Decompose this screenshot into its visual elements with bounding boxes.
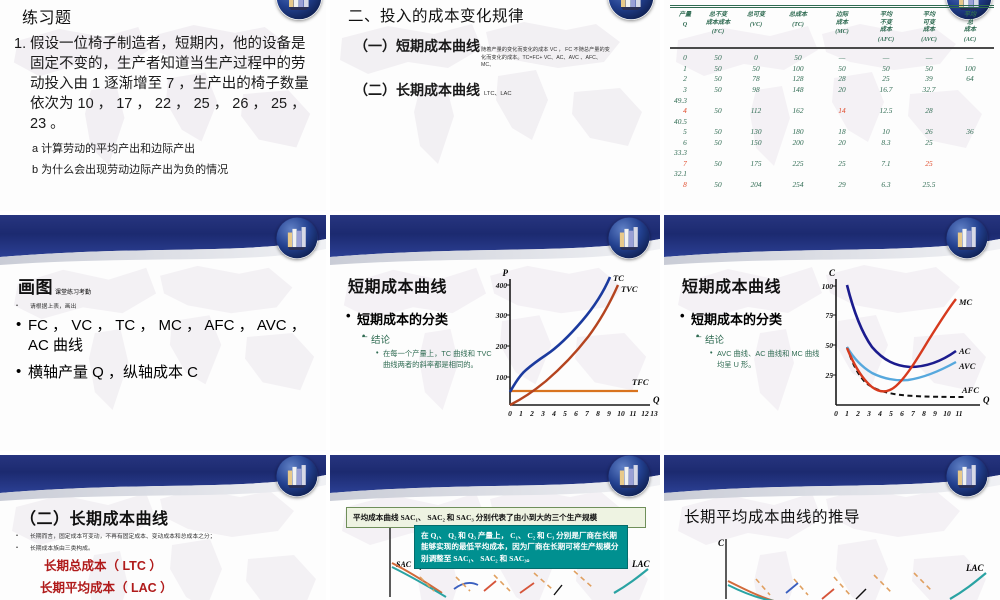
svg-text:10: 10	[617, 409, 625, 418]
svg-text:1: 1	[519, 409, 523, 418]
table-cell: 3	[670, 85, 700, 96]
svg-text:4: 4	[551, 409, 556, 418]
table-cell	[950, 159, 990, 170]
svg-text:1: 1	[845, 409, 849, 418]
table-cell: 225	[776, 159, 820, 170]
table-cell: 25	[908, 138, 950, 149]
books-pillars-logo	[276, 0, 322, 20]
table-rule-top	[670, 5, 994, 6]
page-title: 画图	[18, 273, 53, 298]
table-header-cell: 总不变成本成本(FC)	[700, 12, 736, 44]
svg-text:Q: Q	[653, 395, 660, 405]
table-cell: 25	[820, 159, 864, 170]
svg-text:11: 11	[955, 409, 962, 418]
svg-text:8: 8	[922, 409, 926, 418]
table-header-cell: 平均可变成本(AVC)	[908, 12, 950, 44]
table-cell: 29	[820, 180, 864, 191]
world-map-watermark	[330, 0, 660, 211]
page-title-note: 课堂练习考勤	[55, 287, 91, 298]
slide-short-run-average[interactable]: 短期成本曲线 短期成本的分类 – 结论 ▪ AVC 曲线、AC 曲线和 MC 曲…	[664, 215, 1000, 455]
table-cell: 50	[700, 53, 736, 64]
table-cell: 50	[700, 74, 736, 85]
table-cell: 100	[776, 64, 820, 75]
svg-text:7: 7	[911, 409, 915, 418]
table-cell	[950, 85, 990, 96]
table-cell: 1	[670, 64, 700, 75]
table-rule-mid	[670, 47, 994, 49]
table-cell: 8.3	[864, 138, 908, 149]
svg-text:TC: TC	[613, 273, 624, 283]
cost-law-body: （一）短期成本曲线 随着产量的变化而变化的成本 VC ， FC 不随总产量的变化…	[354, 36, 654, 100]
table-cell: 7.1	[864, 159, 908, 170]
table-cell: 10	[864, 127, 908, 138]
table-cell: 25	[864, 74, 908, 85]
table-cell: 6	[670, 138, 700, 149]
table-body: 050050————150501005050501002507812828253…	[670, 50, 994, 190]
table-row: 350981482016.732.7	[670, 85, 994, 96]
ac-avc-mc-afc-chart: C Q 10075 5025 012 345 678 91011	[804, 265, 996, 445]
callout-green-text: 平均成本曲线 SAC₁、 SAC₂ 和 SAC₃ 分别代表了由小到大的三个生产规…	[353, 512, 639, 523]
page-title: （二）长期成本曲线	[20, 505, 169, 529]
books-pillars-logo	[608, 217, 650, 259]
table-cell: 20	[820, 138, 864, 149]
slide-thumbnail-grid: 练习题 1. 假设一位椅子制造者，短期内，他的设备是固定不变的，生产者知道当生产…	[0, 0, 1000, 600]
slide-cost-table[interactable]: 产量Q总不变成本成本(FC)总可变(VC)总成本(TC)边际成本(MC)平均不变…	[664, 0, 1000, 215]
svg-text:P: P	[503, 268, 509, 278]
short-run-heading: （一）短期成本曲线	[354, 36, 480, 56]
lac-label: 长期平均成本（ LAC ）	[40, 577, 173, 596]
table-row: 650150200208.325	[670, 138, 994, 149]
table-header-cell: 产量Q	[670, 12, 700, 44]
svg-text:AC: AC	[958, 346, 971, 356]
svg-text:TVC: TVC	[621, 284, 638, 294]
table-cell: 78	[736, 74, 776, 85]
table-cell: 98	[736, 85, 776, 96]
table-cell: 50	[864, 64, 908, 75]
svg-text:100: 100	[496, 373, 508, 382]
table-cell: 16.7	[864, 85, 908, 96]
table-cell: 180	[776, 127, 820, 138]
table-cell: 254	[776, 180, 820, 191]
page-title: 长期平均成本曲线的推导	[684, 505, 860, 527]
exercise-sub-b: b 为什么会出现劳动边际产出为负的情况	[32, 161, 314, 177]
table-cell: 100	[950, 64, 990, 75]
slide-short-run-total[interactable]: 短期成本曲线 短期成本的分类 – 结论 ▪ 在每一个产量上，TC 曲线和 TVC…	[330, 215, 664, 455]
svg-text:5: 5	[563, 409, 567, 418]
item-number: 1.	[14, 34, 30, 134]
svg-text:6: 6	[900, 409, 904, 418]
table-cell: 5	[670, 127, 700, 138]
svg-text:0: 0	[834, 409, 838, 418]
table-cell: 39	[908, 74, 950, 85]
table-cell: 50	[700, 159, 736, 170]
bullet-level-2: – 结论	[362, 332, 496, 346]
svg-text:0: 0	[508, 409, 512, 418]
table-cell: 36	[950, 127, 990, 138]
short-run-note: 随着产量的变化而变化的成本 VC ， FC 不随总产量的变化而变化的成本。TC=…	[481, 47, 611, 70]
long-run-note-2: 长期成本族由三类构成。	[16, 545, 306, 554]
table-cell: 50	[700, 85, 736, 96]
svg-text:6: 6	[574, 409, 578, 418]
table-cell: 50	[908, 64, 950, 75]
table-cell-wrapped: 32.1	[670, 169, 994, 180]
table-cell: —	[950, 53, 990, 64]
books-pillars-logo	[946, 455, 988, 497]
slide-lac-derivation-callouts[interactable]: C SAC 1 LAC 平均成本曲线 SAC₁、 SAC₂ 和 SA	[330, 455, 664, 600]
svg-text:2: 2	[529, 409, 534, 418]
table-cell: 50	[776, 53, 820, 64]
svg-text:C: C	[718, 538, 725, 548]
page-title: 短期成本曲线	[348, 273, 447, 297]
books-pillars-logo	[608, 455, 650, 497]
svg-text:C: C	[829, 268, 836, 278]
svg-text:300: 300	[495, 311, 508, 320]
draw-tiny-bullet: 请根据上表，画出	[16, 303, 316, 312]
svg-text:3: 3	[866, 409, 871, 418]
long-run-notes: 长期而言，固定成本可变动，不再有固定成本、变动成本和总成本之分； 长期成本族由三…	[16, 533, 306, 553]
table-row: 750175225257.125	[670, 159, 994, 170]
svg-text:10: 10	[943, 409, 951, 418]
table-header-cell: 总成本(TC)	[776, 12, 820, 44]
lac-derivation-chart: C LAC	[674, 537, 996, 600]
table-header-row: 产量Q总不变成本成本(FC)总可变(VC)总成本(TC)边际成本(MC)平均不变…	[670, 9, 994, 46]
table-cell: 0	[736, 53, 776, 64]
table-cell: 130	[736, 127, 776, 138]
slide-long-run-cost[interactable]: （二）长期成本曲线 长期而言，固定成本可变动，不再有固定成本、变动成本和总成本之…	[0, 455, 330, 600]
table-cell: 50	[700, 127, 736, 138]
table-row: 55013018018102636	[670, 127, 994, 138]
table-cell	[950, 180, 990, 191]
slide-cost-change-law[interactable]: 二、投入的成本变化规律 （一）短期成本曲线 随着产量的变化而变化的成本 VC ，…	[330, 0, 664, 215]
svg-text:TFC: TFC	[632, 377, 649, 387]
svg-text:3: 3	[540, 409, 545, 418]
svg-text:400: 400	[495, 281, 508, 290]
table-cell: 148	[776, 85, 820, 96]
svg-text:2: 2	[855, 409, 860, 418]
svg-text:9: 9	[607, 409, 611, 418]
draw-bullets: 请根据上表，画出 FC ， VC ， TC ， MC ， AFC ， AVC ，…	[16, 303, 316, 384]
cost-table: 产量Q总不变成本成本(FC)总可变(VC)总成本(TC)边际成本(MC)平均不变…	[670, 4, 994, 190]
table-cell: 50	[700, 106, 736, 117]
svg-text:7: 7	[585, 409, 589, 418]
page-title: 短期成本曲线	[682, 273, 781, 297]
bullet-level-3: ▪ 在每一个产量上，TC 曲线和 TVC 曲线两者的斜率都是相同的。	[376, 349, 496, 371]
svg-text:200: 200	[495, 342, 508, 351]
table-cell: 204	[736, 180, 776, 191]
table-cell-wrapped: 40.5	[670, 117, 994, 128]
table-cell: 25.5	[908, 180, 950, 191]
bullet-level-1: 短期成本的分类	[346, 309, 496, 328]
page-title: 二、投入的成本变化规律	[348, 4, 524, 26]
table-header-cell: 平均总成本(AC)	[950, 12, 990, 44]
long-run-note: LTC、LAC	[484, 90, 512, 99]
short-run-total-bullets: 短期成本的分类 – 结论 ▪ 在每一个产量上，TC 曲线和 TVC 曲线两者的斜…	[346, 309, 496, 371]
table-row: 15050100505050100	[670, 64, 994, 75]
table-row: 4501121621412.528	[670, 106, 994, 117]
exercise-body: 1. 假设一位椅子制造者，短期内，他的设备是固定不变的，生产者知道当生产过程中的…	[14, 34, 314, 177]
table-cell: —	[820, 53, 864, 64]
svg-text:100: 100	[822, 282, 834, 291]
table-cell: 18	[820, 127, 864, 138]
table-cell: 28	[908, 106, 950, 117]
svg-text:5: 5	[889, 409, 893, 418]
table-row: 050050————	[670, 53, 994, 64]
page-title: 练习题	[22, 4, 72, 28]
books-pillars-logo	[946, 217, 988, 259]
table-cell-wrapped: 33.3	[670, 148, 994, 159]
table-row: 2507812828253964	[670, 74, 994, 85]
table-cell: 6.3	[864, 180, 908, 191]
table-cell: 12.5	[864, 106, 908, 117]
table-cell: 50	[736, 64, 776, 75]
svg-text:9: 9	[933, 409, 937, 418]
svg-text:11: 11	[629, 409, 636, 418]
exercise-paragraph: 假设一位椅子制造者，短期内，他的设备是固定不变的，生产者知道当生产过程中的劳动投…	[30, 34, 314, 134]
svg-text:4: 4	[877, 409, 882, 418]
long-run-heading: （二）长期成本曲线	[354, 80, 480, 100]
svg-text:Q: Q	[983, 395, 990, 405]
draw-title-group: 画图 课堂练习考勤	[18, 273, 91, 298]
svg-text:AVC: AVC	[958, 361, 976, 371]
slide-lac-derivation[interactable]: 长期平均成本曲线的推导 C LAC	[664, 455, 1000, 600]
table-cell: 14	[820, 106, 864, 117]
bullet-level-1: 短期成本的分类	[680, 309, 820, 328]
table-cell: 50	[820, 64, 864, 75]
table-cell	[950, 106, 990, 117]
table-cell: 0	[670, 53, 700, 64]
table-cell: 128	[776, 74, 820, 85]
exercise-sub-a: a 计算劳动的平均产出和边际产出	[32, 140, 314, 156]
table-cell: 25	[908, 159, 950, 170]
table-header-cell: 总可变(VC)	[736, 12, 776, 44]
bullet-level-2: – 结论	[696, 332, 820, 346]
slide-exercise[interactable]: 练习题 1. 假设一位椅子制造者，短期内，他的设备是固定不变的，生产者知道当生产…	[0, 0, 330, 215]
long-run-note-1: 长期而言，固定成本可变动，不再有固定成本、变动成本和总成本之分；	[16, 533, 306, 542]
table-cell: 2	[670, 74, 700, 85]
slide-draw-graph[interactable]: 画图 课堂练习考勤 请根据上表，画出 FC ， VC ， TC ， MC ， A…	[0, 215, 330, 455]
table-cell: —	[908, 53, 950, 64]
draw-bullet-2: 横轴产量 Q ，纵轴成本 C	[16, 363, 316, 384]
table-header-cell: 边际成本(MC)	[820, 12, 864, 44]
svg-text:MC: MC	[958, 297, 973, 307]
table-cell: 112	[736, 106, 776, 117]
svg-text:SAC: SAC	[396, 560, 412, 569]
table-cell: 50	[700, 180, 736, 191]
table-cell: 175	[736, 159, 776, 170]
table-rule-top2	[670, 7, 994, 8]
table-header-cell: 平均不变成本(AFC)	[864, 12, 908, 44]
table-cell: 26	[908, 127, 950, 138]
svg-text:LAC: LAC	[631, 559, 651, 569]
table-row: 850204254296.325.5	[670, 180, 994, 191]
books-pillars-logo	[276, 217, 318, 259]
table-cell-wrapped: 49.3	[670, 96, 994, 107]
callout-teal: 在 Q₁、 Q₂ 和 Q₃ 产量上， C₁、 C₂ 和 C₃ 分别是厂商在长期能…	[414, 525, 628, 569]
svg-text:AFC: AFC	[961, 385, 979, 395]
svg-text:8: 8	[596, 409, 600, 418]
table-cell: 8	[670, 180, 700, 191]
draw-bullet-1: FC ， VC ， TC ， MC ， AFC ， AVC ， AC 曲线	[16, 316, 316, 357]
table-cell	[950, 138, 990, 149]
table-cell: 50	[700, 138, 736, 149]
table-cell: 4	[670, 106, 700, 117]
table-cell: 28	[820, 74, 864, 85]
svg-text:LAC: LAC	[965, 563, 985, 573]
books-pillars-logo	[276, 455, 318, 497]
svg-text:12: 12	[641, 409, 649, 418]
tc-tvc-tfc-chart: P Q 400300 200100 012 345 678 91011 1	[482, 265, 662, 445]
table-cell: 150	[736, 138, 776, 149]
table-cell: 7	[670, 159, 700, 170]
books-pillars-logo	[608, 0, 654, 20]
ltc-label: 长期总成本（ LTC ）	[44, 555, 162, 574]
callout-teal-text: 在 Q₁、 Q₂ 和 Q₃ 产量上， C₁、 C₂ 和 C₃ 分别是厂商在长期能…	[421, 530, 621, 564]
table-cell: 162	[776, 106, 820, 117]
table-cell: 64	[950, 74, 990, 85]
table-cell: —	[864, 53, 908, 64]
svg-text:25: 25	[825, 371, 834, 380]
short-run-average-bullets: 短期成本的分类 – 结论 ▪ AVC 曲线、AC 曲线和 MC 曲线均呈 U 形…	[680, 309, 820, 371]
table-cell: 200	[776, 138, 820, 149]
table-cell: 50	[700, 64, 736, 75]
svg-text:13: 13	[650, 409, 658, 418]
table-cell: 32.7	[908, 85, 950, 96]
table-cell: 20	[820, 85, 864, 96]
